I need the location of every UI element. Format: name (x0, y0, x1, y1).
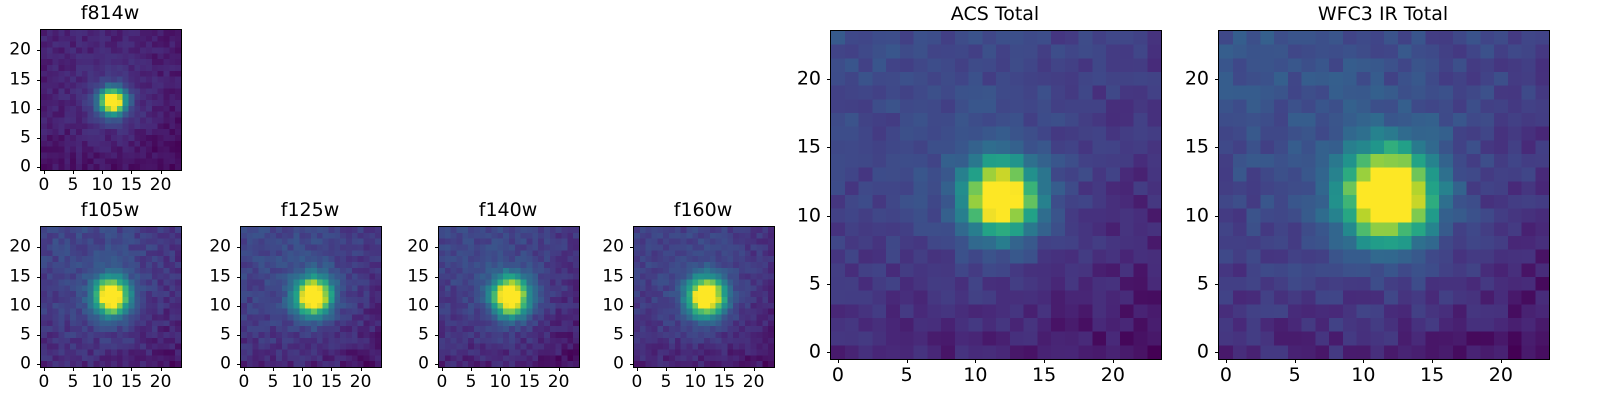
y-tick-mark (827, 79, 831, 80)
x-tick-label: 20 (350, 374, 372, 391)
y-tick-label: 20 (761, 69, 821, 88)
y-tick-label: 15 (0, 71, 31, 88)
y-tick-mark (435, 335, 439, 336)
y-tick-label: 15 (564, 268, 624, 285)
x-tick-mark (131, 170, 132, 174)
x-tick-mark (73, 367, 74, 371)
y-tick-label: 10 (171, 297, 231, 314)
y-tick-label: 10 (369, 297, 429, 314)
y-tick-mark (37, 167, 41, 168)
x-tick-label: 0 (631, 374, 642, 391)
panel-title-f160w: f160w (633, 201, 773, 220)
y-tick-label: 20 (564, 239, 624, 256)
x-tick-mark (273, 367, 274, 371)
y-tick-mark (37, 138, 41, 139)
x-tick-label: 0 (38, 177, 49, 194)
y-tick-label: 10 (0, 297, 31, 314)
x-tick-label: 5 (268, 374, 279, 391)
x-tick-label: 5 (68, 374, 79, 391)
x-tick-label: 0 (238, 374, 249, 391)
y-tick-mark (237, 335, 241, 336)
x-tick-label: 15 (1420, 366, 1444, 385)
x-tick-mark (1432, 359, 1433, 363)
x-tick-label: 10 (291, 374, 313, 391)
y-tick-label: 15 (369, 268, 429, 285)
x-tick-mark (331, 367, 332, 371)
heatmap-plot-area-f105w[interactable] (40, 226, 182, 368)
x-tick-mark (102, 367, 103, 371)
x-tick-label: 10 (91, 177, 113, 194)
y-tick-mark (37, 306, 41, 307)
y-tick-label: 0 (564, 356, 624, 373)
x-tick-mark (73, 170, 74, 174)
y-tick-mark (37, 335, 41, 336)
y-tick-label: 0 (0, 356, 31, 373)
heatmap-image-f160w (634, 227, 774, 367)
x-tick-mark (44, 367, 45, 371)
y-tick-mark (237, 364, 241, 365)
y-tick-mark (435, 277, 439, 278)
y-tick-mark (435, 364, 439, 365)
y-tick-mark (1215, 352, 1219, 353)
y-tick-mark (435, 247, 439, 248)
x-tick-mark (637, 367, 638, 371)
y-tick-label: 20 (369, 239, 429, 256)
y-tick-label: 20 (0, 42, 31, 59)
y-tick-mark (37, 247, 41, 248)
x-tick-mark (1363, 359, 1364, 363)
y-tick-label: 15 (0, 268, 31, 285)
x-tick-label: 15 (1032, 366, 1056, 385)
panel-title-wfc3_ir_total: WFC3 IR Total (1218, 5, 1548, 24)
x-tick-mark (442, 367, 443, 371)
y-tick-label: 5 (171, 326, 231, 343)
heatmap-image-f105w (41, 227, 181, 367)
y-tick-mark (630, 364, 634, 365)
heatmap-image-wfc3_ir_total (1219, 31, 1549, 359)
y-tick-mark (630, 277, 634, 278)
heatmap-plot-area-wfc3_ir_total[interactable] (1218, 30, 1550, 360)
x-tick-label: 20 (1489, 366, 1513, 385)
y-tick-mark (827, 216, 831, 217)
x-tick-mark (102, 170, 103, 174)
x-tick-label: 15 (321, 374, 343, 391)
heatmap-plot-area-f814w[interactable] (40, 29, 182, 171)
heatmap-plot-area-f160w[interactable] (633, 226, 775, 368)
x-tick-label: 10 (489, 374, 511, 391)
x-tick-mark (302, 367, 303, 371)
heatmap-plot-area-f140w[interactable] (438, 226, 580, 368)
x-tick-mark (529, 367, 530, 371)
x-tick-mark (161, 170, 162, 174)
y-tick-mark (827, 352, 831, 353)
x-tick-mark (1044, 359, 1045, 363)
x-tick-mark (559, 367, 560, 371)
y-tick-mark (237, 277, 241, 278)
y-tick-label: 15 (761, 138, 821, 157)
x-tick-mark (975, 359, 976, 363)
x-tick-label: 10 (91, 374, 113, 391)
x-tick-label: 0 (38, 374, 49, 391)
panel-title-acs_total: ACS Total (830, 5, 1160, 24)
y-tick-mark (827, 284, 831, 285)
x-tick-label: 20 (150, 177, 172, 194)
y-tick-label: 15 (1149, 138, 1209, 157)
y-tick-label: 0 (369, 356, 429, 373)
x-tick-label: 0 (832, 366, 844, 385)
x-tick-label: 20 (548, 374, 570, 391)
y-tick-label: 10 (1149, 206, 1209, 225)
x-tick-label: 10 (684, 374, 706, 391)
heatmap-image-f140w (439, 227, 579, 367)
y-tick-mark (37, 50, 41, 51)
y-tick-label: 0 (171, 356, 231, 373)
y-tick-mark (1215, 147, 1219, 148)
y-tick-mark (37, 109, 41, 110)
x-tick-mark (471, 367, 472, 371)
y-tick-mark (237, 306, 241, 307)
heatmap-image-f814w (41, 30, 181, 170)
y-tick-label: 0 (0, 159, 31, 176)
y-tick-label: 0 (761, 343, 821, 362)
x-tick-label: 10 (1351, 366, 1375, 385)
y-tick-label: 0 (1149, 343, 1209, 362)
heatmap-plot-area-acs_total[interactable] (830, 30, 1162, 360)
x-tick-mark (44, 170, 45, 174)
y-tick-label: 10 (761, 206, 821, 225)
x-tick-mark (161, 367, 162, 371)
y-tick-label: 5 (564, 326, 624, 343)
x-tick-mark (754, 367, 755, 371)
y-tick-label: 20 (171, 239, 231, 256)
x-tick-mark (695, 367, 696, 371)
x-tick-mark (1226, 359, 1227, 363)
x-tick-label: 20 (150, 374, 172, 391)
x-tick-label: 15 (714, 374, 736, 391)
y-tick-label: 20 (1149, 69, 1209, 88)
x-tick-mark (361, 367, 362, 371)
y-tick-mark (237, 247, 241, 248)
panel-title-f105w: f105w (40, 201, 180, 220)
y-tick-label: 20 (0, 239, 31, 256)
x-tick-label: 20 (1101, 366, 1125, 385)
y-tick-label: 5 (369, 326, 429, 343)
y-tick-mark (827, 147, 831, 148)
x-tick-label: 10 (963, 366, 987, 385)
y-tick-mark (37, 364, 41, 365)
heatmap-plot-area-f125w[interactable] (240, 226, 382, 368)
y-tick-mark (630, 335, 634, 336)
x-tick-mark (1295, 359, 1296, 363)
x-tick-mark (838, 359, 839, 363)
panel-title-f814w: f814w (40, 4, 180, 23)
x-tick-label: 0 (1220, 366, 1232, 385)
x-tick-mark (724, 367, 725, 371)
x-tick-label: 15 (121, 177, 143, 194)
x-tick-label: 20 (743, 374, 765, 391)
x-tick-label: 5 (661, 374, 672, 391)
heatmap-image-f125w (241, 227, 381, 367)
panel-title-f140w: f140w (438, 201, 578, 220)
y-tick-label: 5 (761, 274, 821, 293)
x-tick-label: 0 (436, 374, 447, 391)
x-tick-mark (500, 367, 501, 371)
y-tick-label: 5 (0, 326, 31, 343)
x-tick-label: 5 (68, 177, 79, 194)
x-tick-mark (131, 367, 132, 371)
y-tick-mark (37, 277, 41, 278)
x-tick-label: 5 (466, 374, 477, 391)
y-tick-mark (37, 80, 41, 81)
y-tick-label: 10 (0, 100, 31, 117)
y-tick-mark (1215, 216, 1219, 217)
y-tick-label: 5 (1149, 274, 1209, 293)
y-tick-mark (1215, 79, 1219, 80)
x-tick-mark (1501, 359, 1502, 363)
x-tick-label: 5 (1289, 366, 1301, 385)
y-tick-label: 15 (171, 268, 231, 285)
x-tick-label: 5 (901, 366, 913, 385)
y-tick-label: 5 (0, 129, 31, 146)
x-tick-label: 15 (121, 374, 143, 391)
y-tick-mark (1215, 284, 1219, 285)
y-tick-mark (435, 306, 439, 307)
panel-title-f125w: f125w (240, 201, 380, 220)
y-tick-label: 10 (564, 297, 624, 314)
x-tick-mark (244, 367, 245, 371)
y-tick-mark (630, 306, 634, 307)
y-tick-mark (630, 247, 634, 248)
x-tick-mark (1113, 359, 1114, 363)
x-tick-mark (907, 359, 908, 363)
x-tick-mark (666, 367, 667, 371)
x-tick-label: 15 (519, 374, 541, 391)
heatmap-image-acs_total (831, 31, 1161, 359)
